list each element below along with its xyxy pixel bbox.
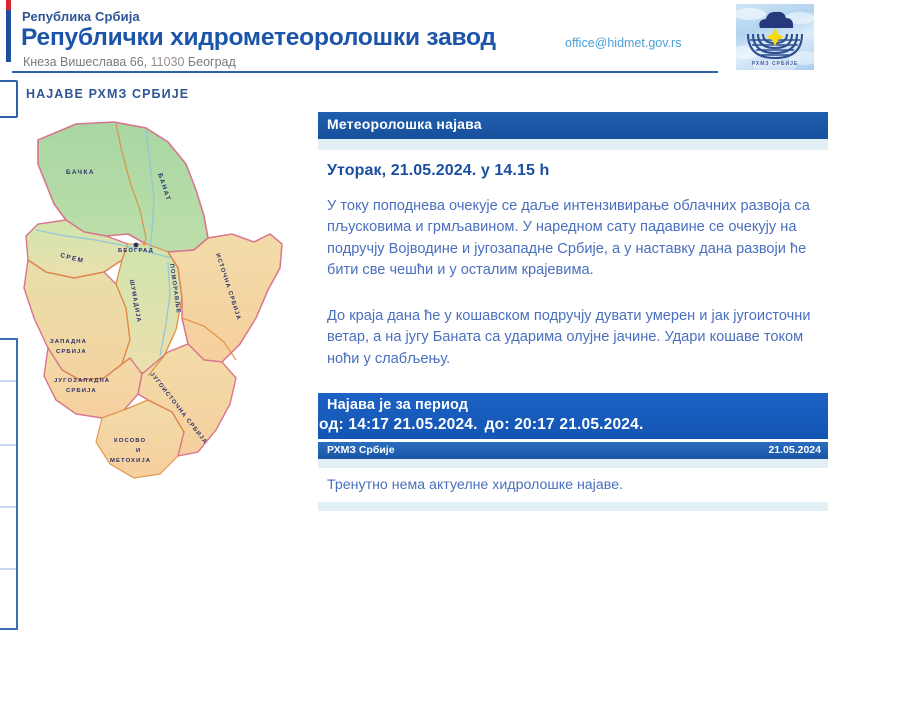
meteo-date-line: Уторак, 21.05.2024. у 14.15 h bbox=[327, 150, 828, 184]
map-label-kosovo: КОСОВО bbox=[114, 438, 146, 444]
institute-title: Републички хидрометеоролошки завод bbox=[21, 24, 496, 52]
serbia-region-map[interactable]: БАЧКА БАНАТ СРЕМ БЕОГРАД ЗАПАДНА СРБИЈА … bbox=[18, 112, 310, 494]
meteo-panel-body: Уторак, 21.05.2024. у 14.15 h У току поп… bbox=[318, 150, 828, 371]
site-header: Република Србија Републички хидрометеоро… bbox=[0, 0, 900, 72]
source-name: РХМЗ Србије bbox=[327, 444, 395, 456]
rhmz-logo-emblem: РХМЗ СРБИЈЕ bbox=[736, 4, 814, 70]
validity-period-title: Најава је за период bbox=[318, 396, 828, 415]
serbia-map-svg: БАЧКА БАНАТ СРЕМ БЕОГРАД ЗАПАДНА СРБИЈА … bbox=[18, 112, 310, 494]
address-street: Кнеза Вишеслава 66, bbox=[23, 55, 151, 69]
institute-address: Кнеза Вишеслава 66, 11030 Београд bbox=[23, 55, 236, 69]
map-label-jugozapadna: ЈУГОЗАПАДНА bbox=[54, 378, 110, 384]
source-bar: РХМЗ Србије 21.05.2024 bbox=[318, 442, 828, 459]
meteo-header-underband bbox=[318, 139, 828, 150]
period-to-label: до: bbox=[485, 416, 510, 433]
announcement-panel: Метеоролошка најава Уторак, 21.05.2024. … bbox=[318, 112, 828, 511]
meteo-paragraph-1: У току поподнева очекује се даље интензи… bbox=[327, 196, 819, 282]
period-to-value: 20:17 21.05.2024. bbox=[514, 416, 643, 433]
map-label-zapadna-srbija: СРБИЈА bbox=[56, 349, 87, 355]
period-from-value: 14:17 21.05.2024. bbox=[348, 416, 477, 433]
hydro-message: Тренутно нема актуелне хидролошке најаве… bbox=[318, 468, 828, 502]
nav-item-najave[interactable]: НАЈАВЕ РХМЗ СРБИЈЕ bbox=[26, 87, 189, 101]
map-city-marker-beograd bbox=[134, 243, 139, 248]
nav-strip: НАЈАВЕ РХМЗ СРБИЈЕ bbox=[0, 84, 900, 108]
hydro-band-top bbox=[318, 459, 828, 468]
contact-email-link[interactable]: office@hidmet.gov.rs bbox=[565, 36, 681, 50]
meteo-panel-header: Метеоролошка најава bbox=[318, 112, 828, 139]
map-label-zapadna: ЗАПАДНА bbox=[50, 339, 87, 345]
map-label-i: И bbox=[136, 448, 141, 454]
address-city: Београд bbox=[184, 55, 235, 69]
map-label-metohija: МЕТОХИЈА bbox=[110, 458, 151, 464]
source-date: 21.05.2024 bbox=[768, 444, 821, 456]
logo-caption: РХМЗ СРБИЈЕ bbox=[752, 61, 798, 67]
map-label-jugozapadna-srbija: СРБИЈА bbox=[66, 388, 97, 394]
map-label-backa: БАЧКА bbox=[66, 169, 95, 176]
edge-box-lower bbox=[0, 338, 18, 630]
meteo-paragraph-2: До краја дана ће у кошавском подручју ду… bbox=[327, 306, 819, 371]
country-line: Република Србија bbox=[22, 9, 140, 24]
map-label-beograd: БЕОГРАД bbox=[118, 248, 154, 254]
address-zip: 11030 bbox=[151, 55, 185, 69]
validity-period-banner: Најава је за период од: 14:17 21.05.2024… bbox=[318, 393, 828, 439]
rhmz-logo[interactable]: РХМЗ СРБИЈЕ bbox=[736, 4, 814, 70]
hydro-band-bottom bbox=[318, 502, 828, 511]
header-divider bbox=[12, 71, 718, 73]
period-from-label: од: bbox=[319, 416, 344, 433]
validity-period-range: од: 14:17 21.05.2024.до: 20:17 21.05.202… bbox=[318, 415, 828, 435]
